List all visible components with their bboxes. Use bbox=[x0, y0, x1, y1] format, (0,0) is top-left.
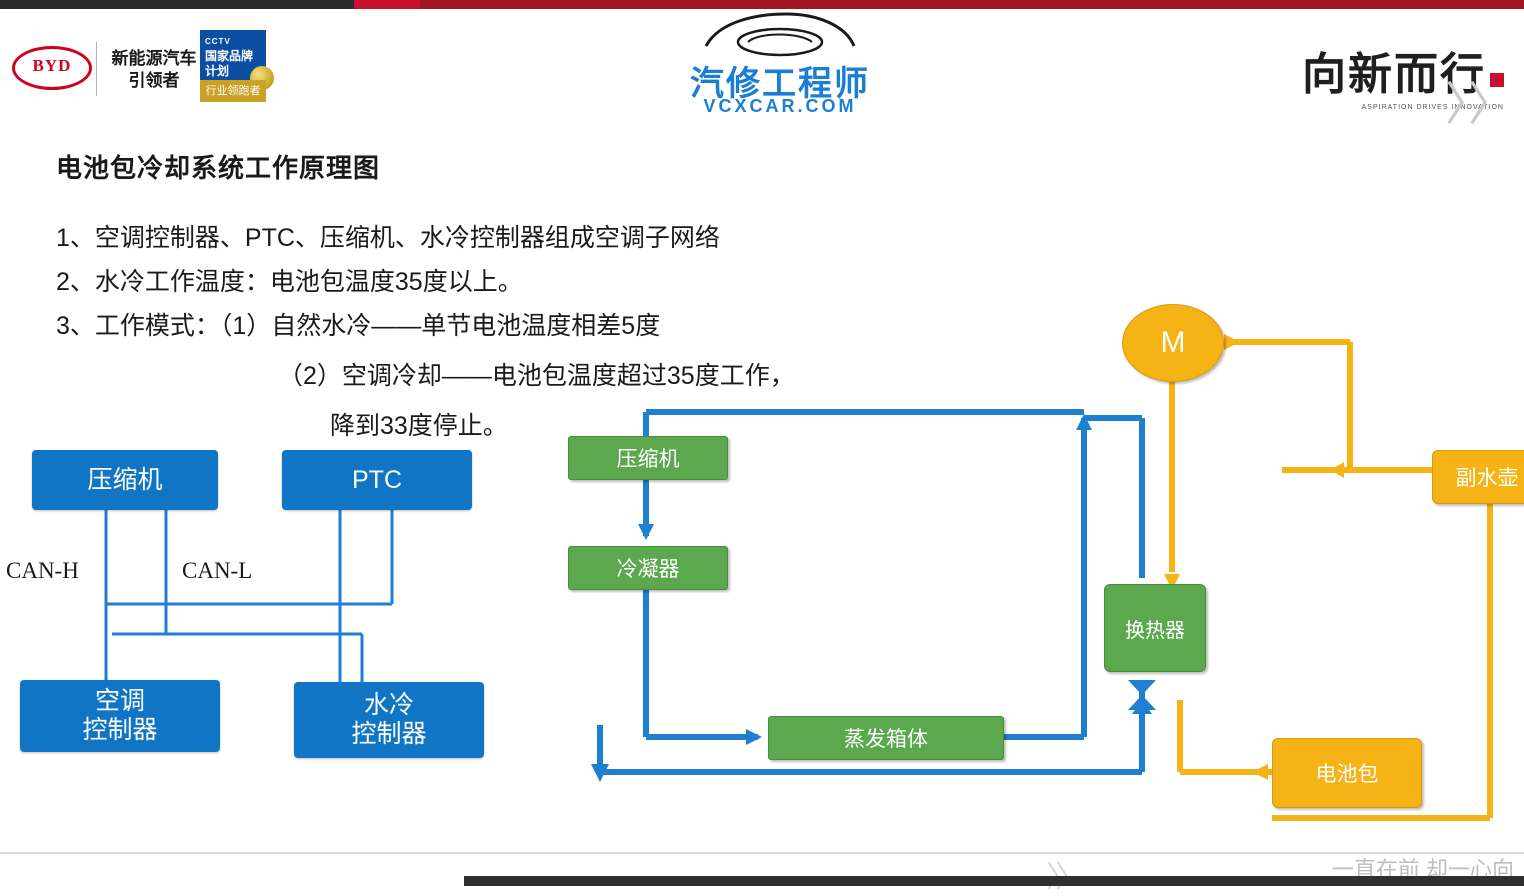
can-node-ptc-label: PTC bbox=[352, 466, 402, 495]
byd-logo: BYD bbox=[12, 46, 92, 90]
vcxcar-subtitle: VCXCAR.COM bbox=[640, 96, 920, 117]
arrow-to-battery bbox=[1252, 764, 1268, 780]
arrow-to-condenser bbox=[638, 524, 654, 540]
slide-line-5: 降到33度停止。 bbox=[330, 406, 508, 442]
header-chevron-icon: 〉〉 bbox=[1445, 68, 1514, 134]
byd-logo-text: BYD bbox=[12, 56, 92, 76]
arrow-up-riser bbox=[1076, 414, 1092, 430]
arrow-return-down bbox=[591, 764, 609, 782]
diagram-node-motor-label: M bbox=[1161, 326, 1186, 360]
diagram-node-heat-exchanger-label: 换热器 bbox=[1125, 614, 1185, 643]
header-divider bbox=[96, 42, 97, 96]
diagram-node-compressor[interactable]: 压缩机 bbox=[568, 436, 728, 480]
diagram-node-compressor-label: 压缩机 bbox=[617, 443, 680, 473]
diagram-node-motor[interactable]: M bbox=[1122, 304, 1224, 382]
page-title: 电池包冷却系统工作原理图 bbox=[56, 148, 380, 185]
top-bar-accent bbox=[354, 0, 420, 9]
vcxcar-logo: 汽修工程师 VCXCAR.COM bbox=[640, 12, 920, 112]
byd-slogan: 新能源汽车引领者 bbox=[104, 48, 204, 92]
footer-chevron-icon: 〉〉 bbox=[1046, 852, 1079, 896]
can-l-label: CAN-L bbox=[182, 558, 252, 584]
arrow-to-evaporator bbox=[746, 729, 762, 745]
car-swoosh-icon bbox=[700, 12, 860, 58]
can-node-ac-controller-label: 空调控制器 bbox=[82, 687, 157, 745]
diagram-node-condenser[interactable]: 冷凝器 bbox=[568, 546, 728, 590]
footer-bar bbox=[464, 876, 1524, 886]
slide-line-3: 3、工作模式：（1）自然水冷——单节电池温度相差5度 bbox=[56, 306, 660, 342]
footer-divider bbox=[0, 852, 1524, 854]
top-bar-left bbox=[0, 0, 354, 9]
slide-line-4: （2）空调冷却——电池包温度超过35度工作， bbox=[278, 356, 795, 392]
slide-line-2: 2、水冷工作温度：电池包温度35度以上。 bbox=[56, 262, 523, 298]
brand-slogan-logo: 向新而行 ASPIRATION DRIVES INNOVATION 〉〉 bbox=[1224, 38, 1504, 110]
can-h-label: CAN-H bbox=[6, 558, 79, 584]
diagram-node-evaporator-label: 蒸发箱体 bbox=[844, 723, 928, 753]
can-node-compressor-label: 压缩机 bbox=[87, 466, 162, 495]
diagram-node-evaporator[interactable]: 蒸发箱体 bbox=[768, 716, 1004, 760]
arrow-to-tank-left bbox=[1330, 462, 1344, 478]
cctv-line3: 计划 bbox=[205, 64, 229, 78]
diagram-node-battery-pack[interactable]: 电池包 bbox=[1272, 738, 1422, 808]
diagram-node-heat-exchanger[interactable]: 换热器 bbox=[1104, 584, 1206, 672]
cctv-badge: CCTV 国家品牌 计划 行业领跑者 bbox=[200, 30, 266, 104]
arrow-to-motor bbox=[1224, 334, 1240, 350]
expansion-valve-icon bbox=[1128, 680, 1156, 714]
diagram-node-expansion-tank[interactable]: 副水壶 bbox=[1432, 450, 1524, 504]
can-node-ptc[interactable]: PTC bbox=[282, 450, 472, 510]
top-bar-right bbox=[420, 0, 1524, 9]
cctv-line2: 国家品牌 bbox=[205, 49, 253, 63]
cctv-label: CCTV bbox=[205, 34, 261, 49]
can-node-water-controller[interactable]: 水冷控制器 bbox=[294, 682, 484, 758]
diagram-node-expansion-tank-label: 副水壶 bbox=[1456, 462, 1519, 492]
can-node-ac-controller[interactable]: 空调控制器 bbox=[20, 680, 220, 752]
diagram-node-battery-pack-label: 电池包 bbox=[1316, 758, 1379, 788]
can-node-compressor[interactable]: 压缩机 bbox=[32, 450, 218, 510]
slide-line-1: 1、空调控制器、PTC、压缩机、水冷控制器组成空调子网络 bbox=[56, 218, 720, 254]
diagram-node-condenser-label: 冷凝器 bbox=[617, 553, 680, 583]
cctv-badge-bottom: 行业领跑者 bbox=[200, 80, 266, 102]
can-node-water-controller-label: 水冷控制器 bbox=[351, 691, 426, 749]
